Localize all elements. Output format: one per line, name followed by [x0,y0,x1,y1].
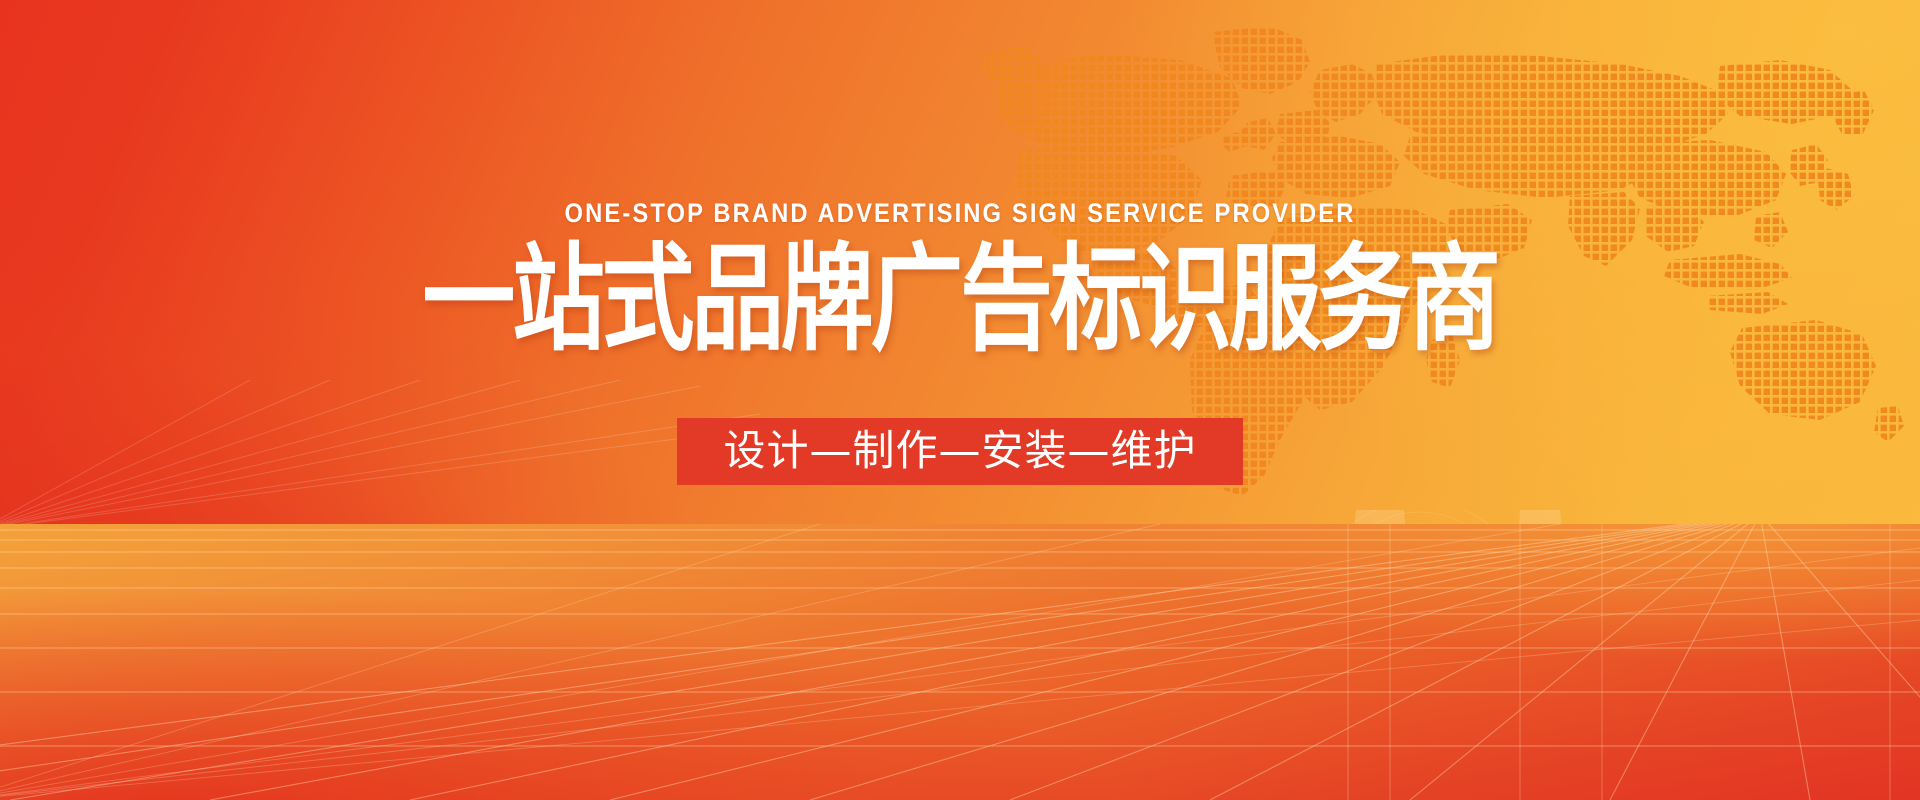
banner-headline: 一站式品牌广告标识服务商 [192,238,1728,362]
banner-badge-container: 设计—制作—安装—维护 [0,418,1920,485]
banner-content: ONE-STOP BRAND ADVERTISING SIGN SERVICE … [0,0,1920,800]
promo-banner: ONE-STOP BRAND ADVERTISING SIGN SERVICE … [0,0,1920,800]
service-steps-badge[interactable]: 设计—制作—安装—维护 [677,418,1242,485]
banner-eyebrow-text: ONE-STOP BRAND ADVERTISING SIGN SERVICE … [115,198,1805,228]
